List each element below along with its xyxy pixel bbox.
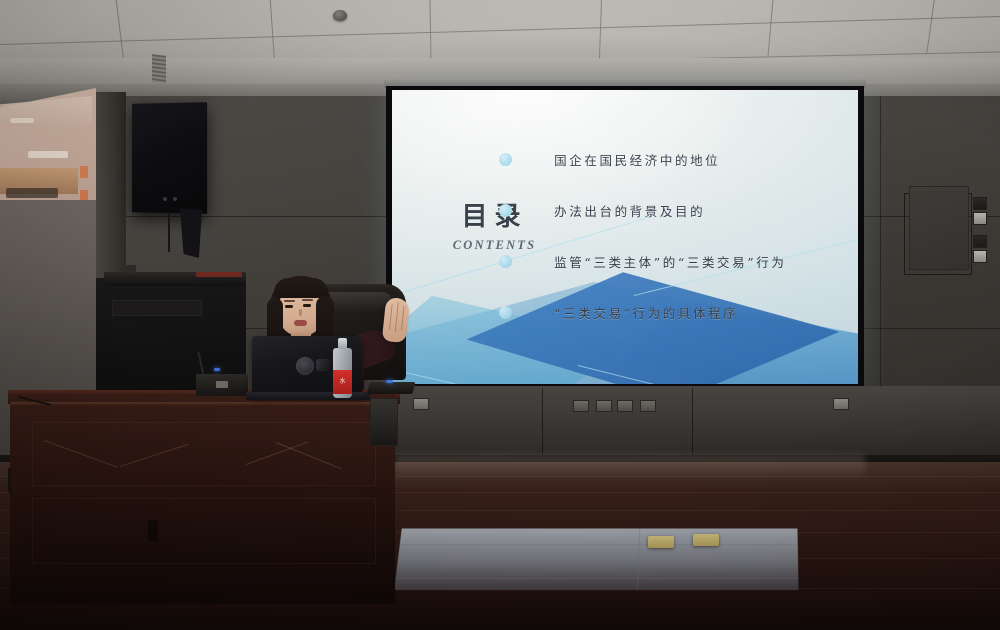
av-rack-front-panel[interactable] [112, 300, 202, 316]
device-led-blue [214, 368, 220, 371]
list-item: 监管“三类主体”的“三类交易”行为 [499, 239, 853, 284]
podium-handle[interactable] [148, 520, 158, 542]
podium-edge-highlight [10, 402, 396, 406]
wall-switch-1[interactable] [973, 197, 987, 210]
slide-toc-list: 国企在国民经济中的地位 办法出台的背景及目的 监管“三类主体”的“三类交易”行为… [499, 137, 853, 341]
wall-switch-3[interactable] [973, 235, 987, 248]
presenter-hand [382, 297, 410, 343]
wall-socket-right[interactable] [833, 398, 849, 410]
floor-outlet-2[interactable] [693, 534, 719, 546]
presentation-slide: 目录 CONTENTS 国企在国民经济中的地位 办法出台的背景及目的 监管“三类… [392, 90, 858, 384]
bottle-label-text: 水 [333, 376, 352, 385]
list-item-label: 办法出台的背景及目的 [554, 201, 705, 220]
wall-switch-4[interactable] [973, 250, 987, 263]
device-led-blue-2 [386, 380, 393, 383]
laptop-lid-glint [316, 359, 330, 371]
mouse-pad[interactable] [367, 382, 416, 394]
wall-socket-4[interactable] [640, 400, 656, 412]
conference-room-scene: 目录 CONTENTS 国企在国民经济中的地位 办法出台的背景及目的 监管“三类… [0, 0, 1000, 630]
doorway-object [6, 188, 58, 198]
wooden-podium [10, 394, 395, 604]
wall-speaker-icon [132, 102, 207, 214]
wall-socket-1[interactable] [573, 400, 589, 412]
water-bottle[interactable]: 水 [333, 338, 352, 398]
speaker-led [163, 197, 167, 201]
floor-screen-reflection [394, 528, 798, 590]
dell-logo-icon [296, 357, 314, 375]
list-item-label: 国企在国民经济中的地位 [554, 150, 720, 169]
wall-socket-2[interactable] [596, 400, 612, 412]
presenter-mouth [294, 320, 307, 326]
bottle-cap [338, 338, 347, 349]
microphone-indicator [216, 381, 228, 388]
doorway-lamp [10, 118, 34, 123]
wall-control-plate [909, 186, 969, 270]
bullet-dot-icon [499, 255, 512, 268]
list-item-label: 监管“三类主体”的“三类交易”行为 [554, 252, 786, 271]
floor-outlet-1[interactable] [648, 536, 674, 548]
bullet-dot-icon [499, 153, 512, 166]
wall-socket-3[interactable] [617, 400, 633, 412]
speaker-hanging-cloth [180, 208, 202, 258]
podium-side-equipment [370, 398, 398, 446]
air-vent-icon [152, 54, 166, 84]
av-rack-knob[interactable] [126, 265, 136, 274]
wall-switch-2[interactable] [973, 212, 987, 225]
list-item-label: “三类交易”行为的具体程序 [554, 303, 738, 322]
speaker-cable [168, 212, 170, 252]
presenter-fringe [274, 278, 328, 298]
list-item: 办法出台的背景及目的 [499, 188, 853, 233]
wall-socket-left[interactable] [413, 398, 429, 410]
smoke-detector-icon [333, 10, 347, 21]
floor-cable [8, 468, 30, 498]
doorway-switch-1[interactable] [80, 166, 88, 178]
low-wall-under-screen [390, 386, 1000, 462]
list-item: “三类交易”行为的具体程序 [499, 290, 853, 335]
speaker-led-2 [173, 197, 177, 201]
av-rack-red-stripe [196, 272, 242, 277]
bullet-dot-icon [499, 204, 512, 217]
bullet-dot-icon [499, 306, 512, 319]
doorway-lamp-2 [28, 151, 68, 158]
list-item: 国企在国民经济中的地位 [499, 137, 853, 182]
